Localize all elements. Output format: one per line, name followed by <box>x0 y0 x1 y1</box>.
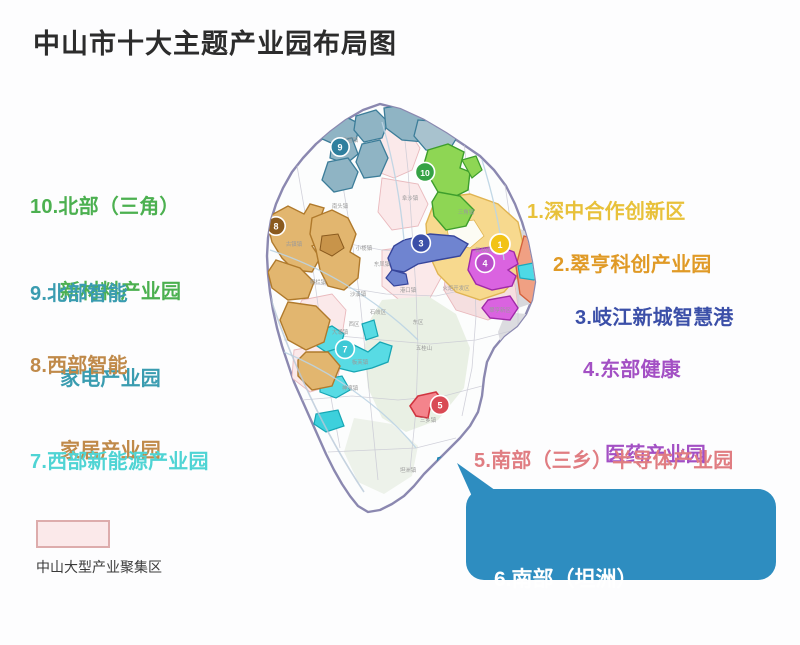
map-marker-9[interactable]: 9 <box>331 138 349 156</box>
svg-text:古镇镇: 古镇镇 <box>286 240 303 248</box>
svg-text:横栏镇: 横栏镇 <box>310 278 327 286</box>
poster-root: 中山市十大主题产业园布局图 <box>0 0 800 645</box>
svg-text:10: 10 <box>420 168 430 178</box>
svg-text:神湾镇: 神湾镇 <box>342 384 359 392</box>
map-marker-3[interactable]: 3 <box>412 234 431 253</box>
svg-text:小榄镇: 小榄镇 <box>356 244 373 252</box>
svg-text:火炬开发区: 火炬开发区 <box>443 284 471 292</box>
park-callout-6[interactable]: 6.南部（坦洲） 高端显示产业园 <box>466 489 776 580</box>
page-title: 中山市十大主题产业园布局图 <box>33 22 397 61</box>
map-marker-4[interactable]: 4 <box>476 254 495 273</box>
svg-text:6: 6 <box>450 468 455 478</box>
svg-text:4: 4 <box>482 259 487 269</box>
park-label-5-text: 5.南部（三乡）半导体产业园 <box>474 447 733 475</box>
park-callout-6-line1: 6.南部（坦洲） <box>494 564 776 596</box>
legend-label-agglomeration: 中山大型产业聚集区 <box>36 557 162 577</box>
svg-text:坦洲镇: 坦洲镇 <box>400 466 417 474</box>
svg-text:三角镇: 三角镇 <box>458 208 475 216</box>
park-label-10-line1: 10.北部（三角） <box>30 193 181 221</box>
svg-text:三乡镇: 三乡镇 <box>420 416 437 424</box>
park-label-8-line1: 8.西部智能 <box>30 352 161 380</box>
map-marker-5[interactable]: 5 <box>431 396 450 415</box>
park-callout-6-text: 6.南部（坦洲） 高端显示产业园 <box>466 501 776 645</box>
svg-text:1: 1 <box>497 240 502 250</box>
svg-text:东区: 东区 <box>413 318 424 326</box>
park-label-4-line1: 4.东部健康 <box>583 356 706 384</box>
svg-text:港口镇: 港口镇 <box>400 286 417 294</box>
map-marker-7[interactable]: 7 <box>336 340 355 359</box>
park-label-7[interactable]: 7.西部新能源产业园 <box>30 391 209 533</box>
svg-text:7: 7 <box>342 345 347 355</box>
svg-text:3: 3 <box>418 239 423 249</box>
svg-text:5: 5 <box>437 401 442 411</box>
svg-text:东凤镇: 东凤镇 <box>374 260 391 268</box>
svg-text:8: 8 <box>273 222 278 232</box>
svg-text:五桂山: 五桂山 <box>416 344 432 352</box>
svg-text:西区: 西区 <box>349 321 360 328</box>
map-marker-6[interactable]: 6 <box>444 463 463 482</box>
map-marker-1[interactable]: 1 <box>490 234 510 254</box>
svg-text:沙溪镇: 沙溪镇 <box>350 290 367 298</box>
legend-swatch-agglomeration <box>36 520 110 548</box>
map-marker-10[interactable]: 10 <box>415 162 434 181</box>
svg-text:南头镇: 南头镇 <box>332 202 349 210</box>
park-label-7-text: 7.西部新能源产业园 <box>30 448 209 476</box>
svg-text:板芙镇: 板芙镇 <box>352 358 369 366</box>
svg-text:石岐区: 石岐区 <box>370 308 387 316</box>
svg-text:大涌镇: 大涌镇 <box>332 328 349 336</box>
svg-text:翠亨新区: 翠亨新区 <box>489 306 511 314</box>
legend: 中山大型产业聚集区 <box>36 520 162 577</box>
svg-text:阜沙镇: 阜沙镇 <box>402 194 419 202</box>
svg-text:9: 9 <box>337 143 342 153</box>
